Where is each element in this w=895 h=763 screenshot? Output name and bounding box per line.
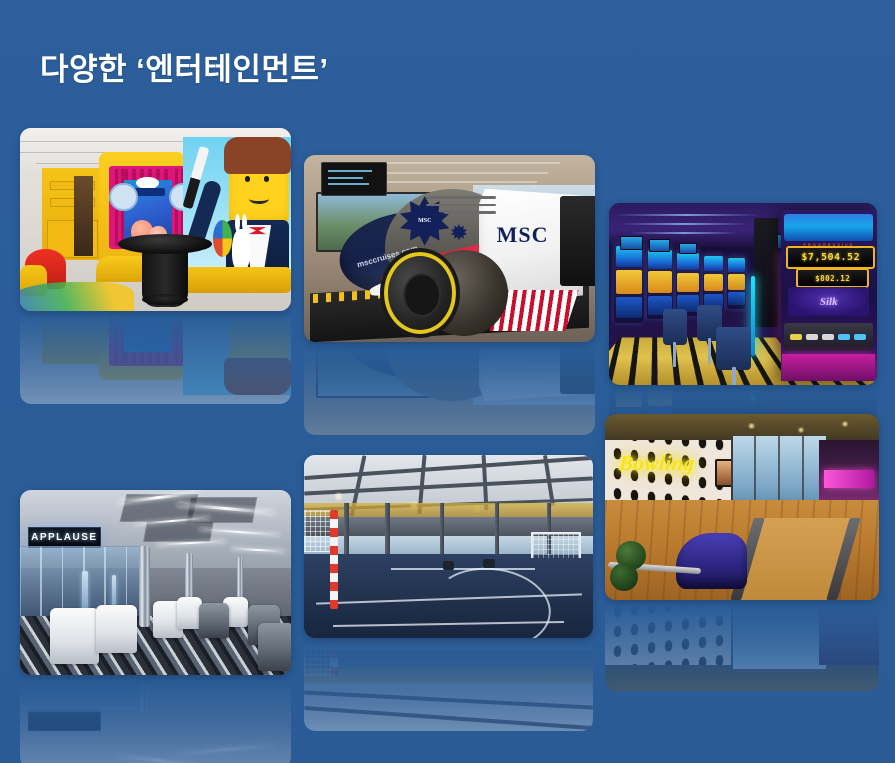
sidepod-vent xyxy=(426,204,496,207)
pirelli-tyre xyxy=(380,248,461,338)
photo-lego-kids-club[interactable] xyxy=(20,128,291,311)
reflection-scene xyxy=(20,312,291,404)
reflection-scene xyxy=(605,601,879,691)
monitor-row xyxy=(328,183,369,185)
spin-button[interactable] xyxy=(822,334,834,340)
scene-applause-lounge: APPLAUSE xyxy=(20,490,291,675)
reflection-f1-simulator xyxy=(304,343,595,435)
ceiling-light-strip xyxy=(630,232,737,234)
cashout-button[interactable] xyxy=(838,334,850,340)
doorway xyxy=(74,176,93,257)
rabbit-ear xyxy=(242,214,247,232)
gallery-tile-applause-lounge[interactable]: APPLAUSE xyxy=(20,490,291,675)
ceiling-light-strip xyxy=(620,223,749,225)
ceiling-light xyxy=(333,492,345,501)
ceiling-line xyxy=(20,141,188,142)
lego-smile xyxy=(249,193,269,204)
slot-machine[interactable] xyxy=(703,254,724,312)
reflection-scene xyxy=(20,676,291,763)
ball-return xyxy=(676,533,747,589)
lego-hair xyxy=(224,137,291,174)
lounge-chair xyxy=(177,597,201,628)
msc-wordmark: MSC xyxy=(497,222,549,248)
rear-wing xyxy=(560,196,595,286)
lines-button[interactable] xyxy=(806,334,818,340)
applause-sign: APPLAUSE xyxy=(28,527,100,548)
gallery-tile-bowling[interactable]: Bowling xyxy=(605,414,879,600)
scene-sports-court xyxy=(304,455,593,638)
cabinet-base-light xyxy=(782,354,875,381)
roof-slat xyxy=(380,181,537,183)
casino-pillar xyxy=(754,218,778,327)
wheel-hub xyxy=(403,273,442,316)
photo-applause-lounge[interactable]: APPLAUSE xyxy=(20,490,291,675)
featured-slot-cabinet[interactable]: PROGRESSIVE $7,504.52 $802.12 Silk xyxy=(781,210,877,381)
cabinet-brand-text: Silk xyxy=(820,296,838,308)
rabbit-ear xyxy=(235,214,240,232)
monitor-row xyxy=(328,177,364,179)
cabinet-header-display xyxy=(784,214,873,241)
slot-machine[interactable] xyxy=(676,250,700,316)
help-button[interactable] xyxy=(854,334,866,340)
lego-eye xyxy=(264,176,269,181)
photo-casino[interactable]: PROGRESSIVE $7,504.52 $802.12 Silk xyxy=(609,203,877,385)
lounge-chair xyxy=(50,608,99,664)
reflection-sports-court xyxy=(304,639,593,731)
applause-sign-text: APPLAUSE xyxy=(31,532,97,543)
jackpot-major-amount: $7,504.52 xyxy=(801,252,860,263)
wall-badge xyxy=(109,183,137,211)
timing-monitor xyxy=(321,162,387,196)
accent-light xyxy=(112,575,116,608)
table-foot xyxy=(142,294,188,305)
equipment-box xyxy=(483,559,495,568)
colourful-carpet xyxy=(20,282,134,311)
lounge-chair xyxy=(96,605,137,653)
accent-light xyxy=(82,571,87,612)
bowling-neon-sign: Bowling xyxy=(617,451,696,476)
pin-deck xyxy=(824,470,873,489)
boundary-pole xyxy=(330,510,338,609)
white-rabbit xyxy=(232,229,249,272)
slot-topper-screen xyxy=(620,236,643,251)
sidepod-vent xyxy=(444,211,496,214)
roof-slat xyxy=(368,172,548,174)
ceiling-downlight xyxy=(747,423,755,429)
scene-bowling: Bowling xyxy=(605,414,879,600)
lounge-chair xyxy=(258,623,291,671)
page-title: 다양한 ‘엔터테인먼트’ xyxy=(40,44,329,89)
bet-button[interactable] xyxy=(790,334,802,340)
cabinet-brand-logo: Silk xyxy=(788,287,869,316)
goal-net-right xyxy=(531,532,581,558)
jackpot-major-display: $7,504.52 xyxy=(786,246,875,269)
reflection-scene xyxy=(304,639,593,731)
scene-f1-simulator: msccruises.com MSC MSC xyxy=(304,155,595,342)
ceiling-downlight xyxy=(797,427,805,433)
casino-stool xyxy=(716,327,751,371)
reflection-scene xyxy=(304,343,595,435)
table-top xyxy=(118,234,213,254)
structural-pillar xyxy=(440,503,445,562)
mirrored-column xyxy=(139,546,150,627)
slot-topper-screen xyxy=(649,239,670,252)
photo-bowling[interactable]: Bowling xyxy=(605,414,879,600)
structural-pillar xyxy=(385,503,390,562)
structural-pillar xyxy=(344,503,349,562)
photo-sports-court[interactable] xyxy=(304,455,593,638)
jackpot-minor-amount: $802.12 xyxy=(815,274,850,283)
gallery-tile-f1-simulator[interactable]: msccruises.com MSC MSC xyxy=(304,155,595,342)
msc-compass-icon xyxy=(451,224,467,240)
button-deck[interactable] xyxy=(784,323,873,350)
scene-lego-kids-club xyxy=(20,128,291,311)
gallery-tile-lego-kids-club[interactable] xyxy=(20,128,291,311)
casino-stool xyxy=(663,309,687,345)
lego-eye xyxy=(245,176,250,181)
reflection-bowling xyxy=(605,601,879,691)
entertainment-gallery-page: 다양한 ‘엔터테인먼트’ xyxy=(0,0,895,763)
ceiling-light-strip xyxy=(614,214,759,216)
jackpot-minor-display: $802.12 xyxy=(796,268,869,287)
slot-machine[interactable] xyxy=(614,243,643,323)
photo-f1-simulator[interactable]: msccruises.com MSC MSC xyxy=(304,155,595,342)
reflection-lego-kids-club xyxy=(20,312,291,404)
monitor-row xyxy=(328,170,373,172)
ceiling-downlight xyxy=(841,421,849,427)
lounge-chair xyxy=(199,603,229,638)
slot-machine[interactable] xyxy=(727,256,746,309)
structural-pillar xyxy=(495,503,500,562)
bowling-ball xyxy=(610,563,637,591)
scene-casino: PROGRESSIVE $7,504.52 $802.12 Silk xyxy=(609,203,877,385)
sidepod-vent xyxy=(426,196,496,199)
reflection-applause-lounge xyxy=(20,676,291,763)
equipment-box xyxy=(443,561,455,570)
gallery-tile-casino[interactable]: PROGRESSIVE $7,504.52 $802.12 Silk xyxy=(609,203,877,385)
slot-topper-screen xyxy=(679,243,697,254)
gallery-tile-sports-court[interactable] xyxy=(304,455,593,638)
ceiling-panel xyxy=(143,521,214,542)
neon-light-strip xyxy=(751,276,755,356)
